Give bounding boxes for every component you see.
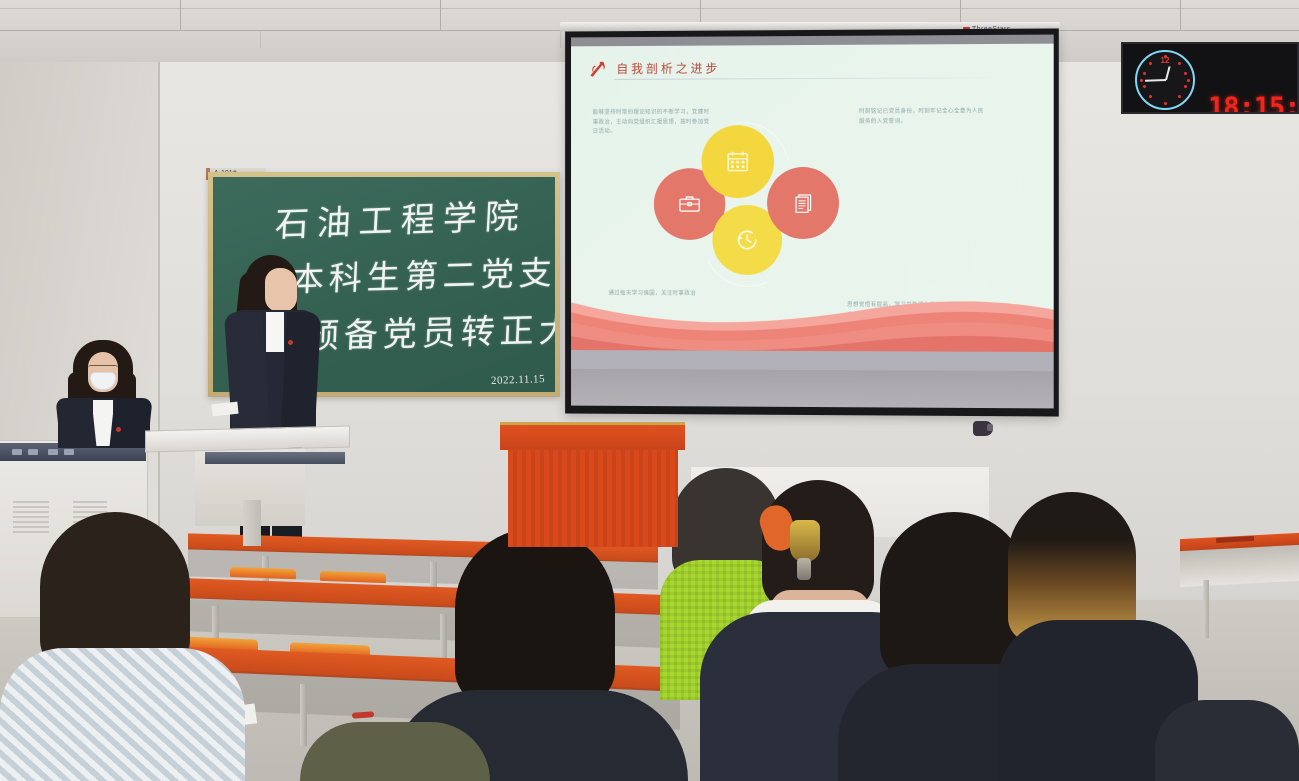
classroom-scene: 12 18:15:34 禁止食品 ThreeStars: [0, 0, 1299, 781]
audience-member-olive-jacket: [300, 722, 490, 781]
desk-right-underside: [1180, 545, 1299, 587]
party-badge: [116, 427, 121, 432]
party-emblem-icon: [587, 58, 609, 80]
podium-leg: [243, 500, 261, 546]
clock-hour-hand: [1165, 66, 1171, 80]
audience-member-right-edge: [1155, 700, 1299, 781]
clock-time-readout: 18:15:34: [1208, 92, 1299, 114]
analog-clock-face: 12: [1135, 50, 1195, 110]
briefcase-icon: [677, 191, 703, 217]
presentation-slide: 自我剖析之进步 能够坚持时常的理论知识的不断学习，党建时事政治，主动向党组织汇报…: [571, 44, 1054, 377]
podium-keyboard-tray[interactable]: [205, 452, 345, 464]
gold-hairpin: [790, 520, 820, 562]
camera-sensor: [973, 421, 993, 436]
slide-title-rule: [614, 77, 1004, 80]
desk-right-leg: [1203, 580, 1209, 638]
camera-lens-icon: [987, 424, 993, 431]
eyeglasses-icon: [88, 365, 118, 371]
slide-text-top-left: 能够坚持时常的理论知识的不断学习，党建时事政治，主动向党组织汇报思想，按时参加党…: [593, 108, 712, 137]
clock-minute-hand: [1145, 79, 1166, 82]
hairpin-tassel: [797, 558, 811, 580]
projection-screen: 自我剖析之进步 能够坚持时常的理论知识的不断学习，党建时事政治，主动向党组织汇报…: [565, 28, 1059, 416]
screen-lower-band: [571, 369, 1054, 409]
wall-corner: [158, 30, 160, 590]
documents-icon: [790, 190, 816, 216]
blackboard-date: 2022.11.15: [491, 373, 545, 387]
slide-text-top-right: 时刻铭记已党员身份，时刻牢记全心全意为人民服务的入党誓词。: [859, 107, 985, 127]
digital-wall-clock: 12 18:15:34 禁止食品: [1121, 42, 1299, 114]
lectern-front-panel: [508, 450, 678, 547]
clock-icon: [734, 227, 760, 253]
lectern-top-surface: [500, 422, 685, 450]
screen-surface: 自我剖析之进步 能够坚持时常的理论知识的不断学习，党建时事政治，主动向党组织汇报…: [571, 35, 1054, 409]
slide-circle-documents: [767, 167, 839, 239]
patterned-jacket: [0, 648, 245, 781]
console-vent-left: [13, 501, 49, 535]
wooden-lectern: [500, 422, 685, 547]
blackboard-line-2: 本科生第二党支部: [290, 245, 555, 301]
blackboard-line-3: 预备党员转正大会: [304, 301, 555, 358]
slide-title: 自我剖析之进步: [616, 59, 720, 76]
blackboard-line-1: 石油工程学院: [274, 189, 528, 247]
slide-wave-graphic: [571, 279, 1054, 377]
calendar-icon: [724, 148, 751, 175]
slide-circle-calendar: [701, 125, 774, 198]
